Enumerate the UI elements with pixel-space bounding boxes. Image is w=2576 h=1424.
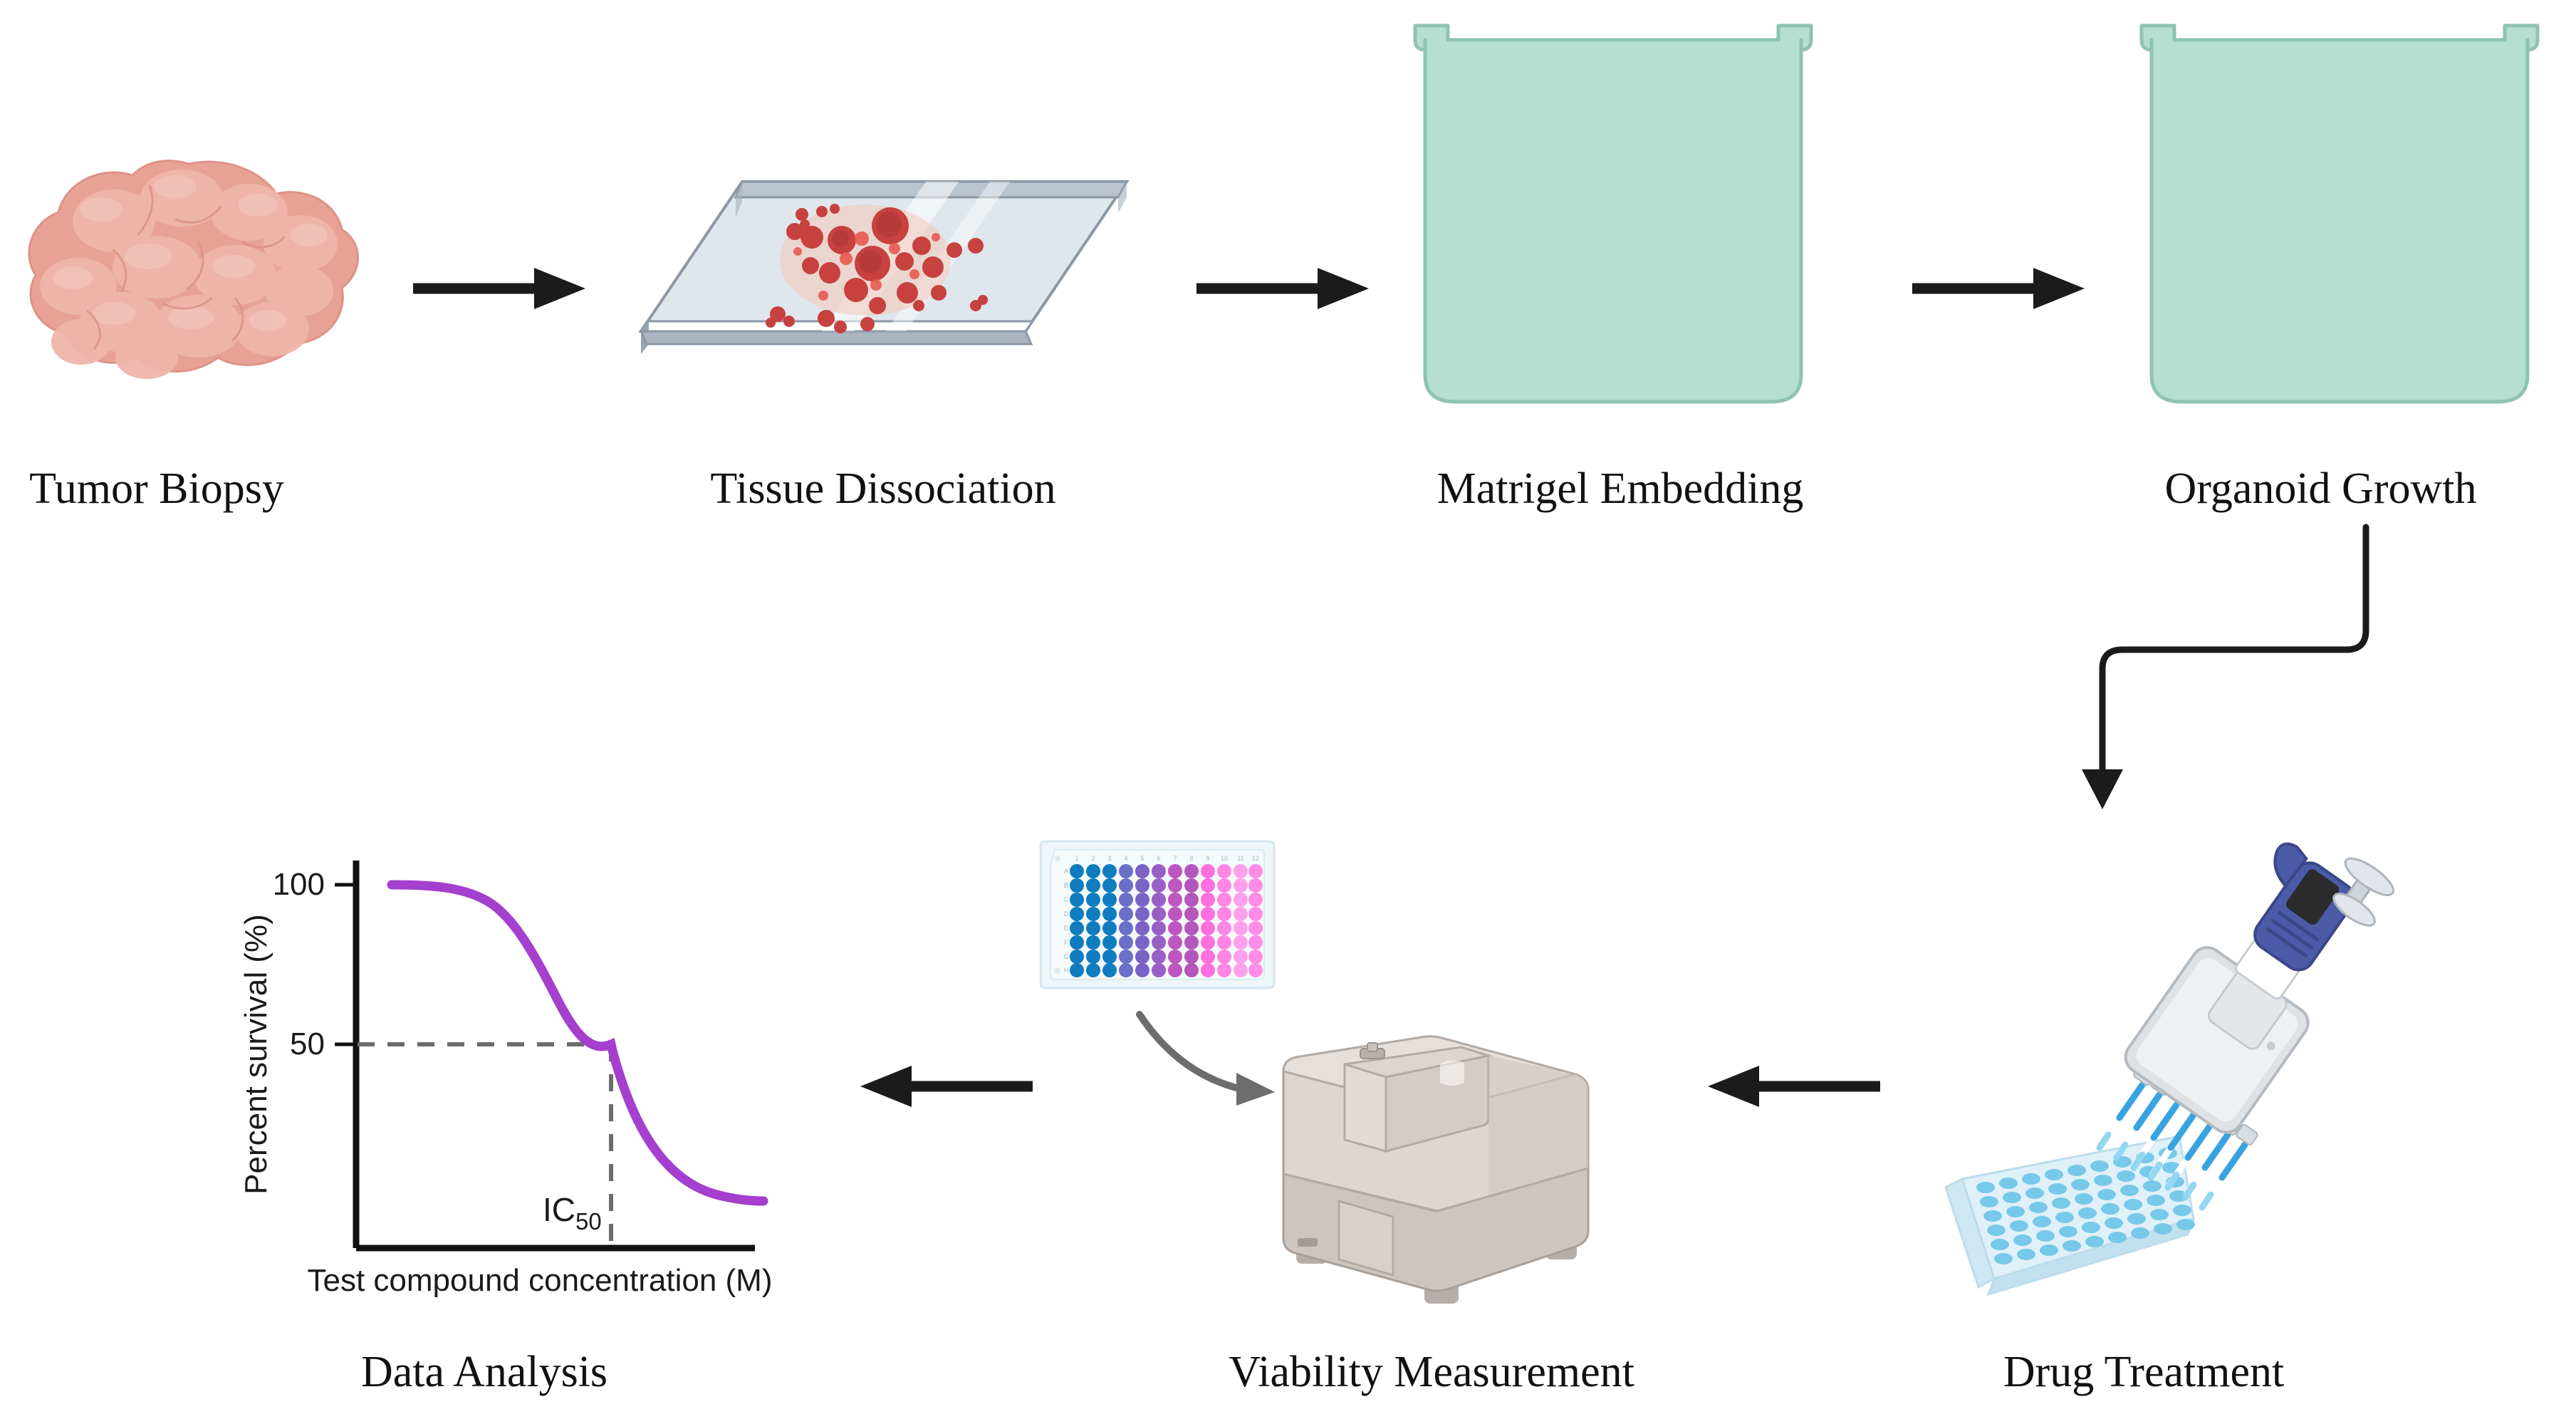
step-label-tumor-biopsy: Tumor Biopsy	[0, 467, 313, 511]
svg-text:B: B	[1064, 882, 1068, 889]
svg-text:D: D	[1064, 910, 1069, 918]
culture-well-single-cells-icon	[1415, 26, 1811, 405]
step-label-drug-treatment: Drug Treatment	[1866, 1350, 2421, 1394]
step-label-viability-measurement: Viability Measurement	[1111, 1350, 1752, 1394]
arrow-treatment-to-viability	[1688, 1054, 1894, 1118]
assay-plate-icon: 123 456 789 101112 ABC DEF GH	[1041, 841, 1274, 988]
data-analysis-chart: 100 50 Percent survival (%) IC50 Test co…	[221, 841, 862, 1325]
svg-text:H: H	[1064, 967, 1069, 974]
arrow-dissociation-to-matrigel	[1182, 256, 1382, 321]
viability-measurement-illustration	[1253, 1033, 1610, 1332]
tumor-mass-icon	[29, 161, 358, 379]
step-label-tissue-dissociation: Tissue Dissociation	[620, 467, 1147, 511]
tissue-dissociation-illustration	[620, 153, 1147, 410]
dose-response-curve-icon: 100 50 Percent survival (%) IC50 Test co…	[239, 861, 772, 1298]
multichannel-pipette-icon	[1946, 812, 2405, 1294]
svg-text:3: 3	[1107, 855, 1111, 862]
svg-text:A: A	[1064, 868, 1068, 875]
svg-text:G: G	[1063, 953, 1068, 960]
ic50-label: IC50	[543, 1191, 602, 1235]
ytick-label-100: 100	[273, 867, 325, 902]
svg-text:7: 7	[1173, 855, 1177, 862]
assay-plate-illustration: 123 456 789 101112 ABC DEF GH	[1036, 837, 1278, 1001]
step-label-data-analysis: Data Analysis	[235, 1350, 734, 1394]
workflow-diagram: Tumor Biopsy	[0, 0, 2576, 1424]
culture-well-organoids-icon	[2142, 26, 2538, 405]
svg-text:6: 6	[1157, 855, 1160, 862]
step-label-matrigel-embedding: Matrigel Embedding	[1339, 467, 1902, 511]
svg-text:10: 10	[1221, 855, 1228, 862]
svg-text:F: F	[1064, 939, 1068, 946]
arrow-matrigel-to-growth	[1898, 256, 2097, 321]
glass-slide-icon	[641, 182, 1127, 354]
arrow-growth-to-treatment	[2030, 527, 2386, 826]
y-axis-title: Percent survival (%)	[239, 914, 273, 1195]
svg-text:12: 12	[1252, 855, 1259, 862]
step-label-organoid-growth: Organoid Growth	[2065, 467, 2576, 511]
svg-text:11: 11	[1237, 855, 1243, 862]
svg-text:9: 9	[1206, 855, 1209, 862]
tumor-biopsy-illustration	[7, 135, 363, 420]
x-axis-title: Test compound concentration (M)	[308, 1263, 773, 1298]
svg-text:4: 4	[1124, 855, 1127, 862]
organoid-growth-illustration	[2119, 6, 2575, 419]
pipette-target-plate	[1946, 1136, 2195, 1294]
svg-text:C: C	[1064, 896, 1069, 903]
svg-text:2: 2	[1091, 855, 1095, 862]
plate-reader-icon	[1283, 1036, 1588, 1304]
matrigel-embedding-illustration	[1392, 6, 1848, 419]
arrow-viability-to-analysis	[840, 1054, 1047, 1118]
svg-text:8: 8	[1189, 855, 1193, 862]
svg-text:5: 5	[1140, 855, 1144, 862]
svg-text:E: E	[1064, 925, 1068, 932]
arrow-biopsy-to-dissociation	[399, 256, 598, 321]
ytick-label-50: 50	[290, 1027, 325, 1061]
svg-text:1: 1	[1075, 855, 1078, 862]
drug-treatment-illustration	[1894, 823, 2393, 1321]
